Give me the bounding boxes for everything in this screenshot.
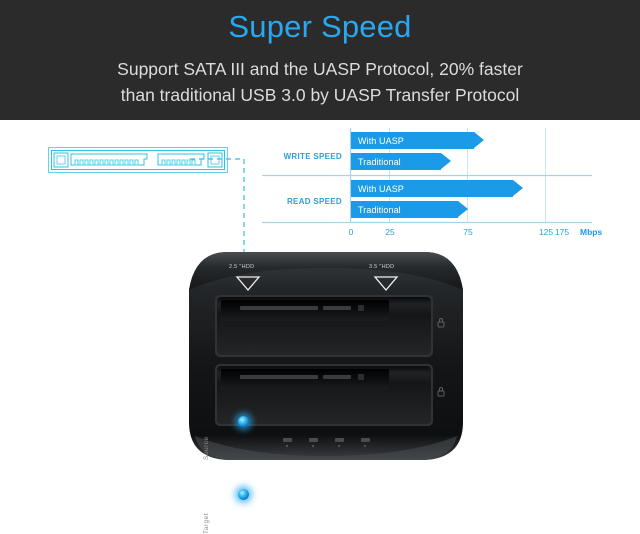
bar-label-read-with-uasp: With UASP [351, 184, 404, 194]
side-label-source: Source [203, 436, 210, 460]
category-label-write-speed: WRITE SPEED [262, 152, 342, 161]
bay-label-3-5-hdd: 3.5 "HDD [369, 264, 394, 270]
bay-label-2-5-hdd: 2.5 "HDD [229, 264, 254, 270]
connection-indicator-target [238, 489, 249, 500]
subtitle-line-2: than traditional USB 3.0 by UASP Transfe… [0, 82, 640, 108]
x-tick-0: 0 [336, 227, 366, 237]
x-tick-75: 75 [453, 227, 483, 237]
connection-indicator-source [238, 416, 249, 427]
side-label-target: Target [203, 513, 210, 534]
x-tick-25: 25 [375, 227, 405, 237]
subtitle-line-1: Support SATA III and the UASP Protocol, … [0, 56, 640, 82]
speed-comparison-chart: WRITE SPEED READ SPEED With UASP Traditi… [262, 128, 592, 246]
bar-read-traditional: Traditional [351, 201, 458, 218]
page-title: Super Speed [0, 8, 640, 46]
bar-write-with-uasp: With UASP [351, 132, 474, 149]
bar-label-read-traditional: Traditional [351, 205, 401, 215]
header-banner: Super Speed Support SATA III and the UAS… [0, 0, 640, 120]
hdd-docking-station [185, 250, 467, 462]
page-subtitle: Support SATA III and the UASP Protocol, … [0, 56, 640, 108]
bar-read-with-uasp: With UASP [351, 180, 513, 197]
bar-label-write-traditional: Traditional [351, 157, 401, 167]
bar-write-traditional: Traditional [351, 153, 441, 170]
content-stage: WRITE SPEED READ SPEED With UASP Traditi… [0, 120, 640, 468]
bar-label-write-with-uasp: With UASP [351, 136, 404, 146]
x-axis-unit-label: Mbps [580, 227, 602, 237]
category-label-read-speed: READ SPEED [262, 197, 342, 206]
sata-connector-icon [48, 147, 228, 173]
x-tick-175: 175 [547, 227, 577, 237]
